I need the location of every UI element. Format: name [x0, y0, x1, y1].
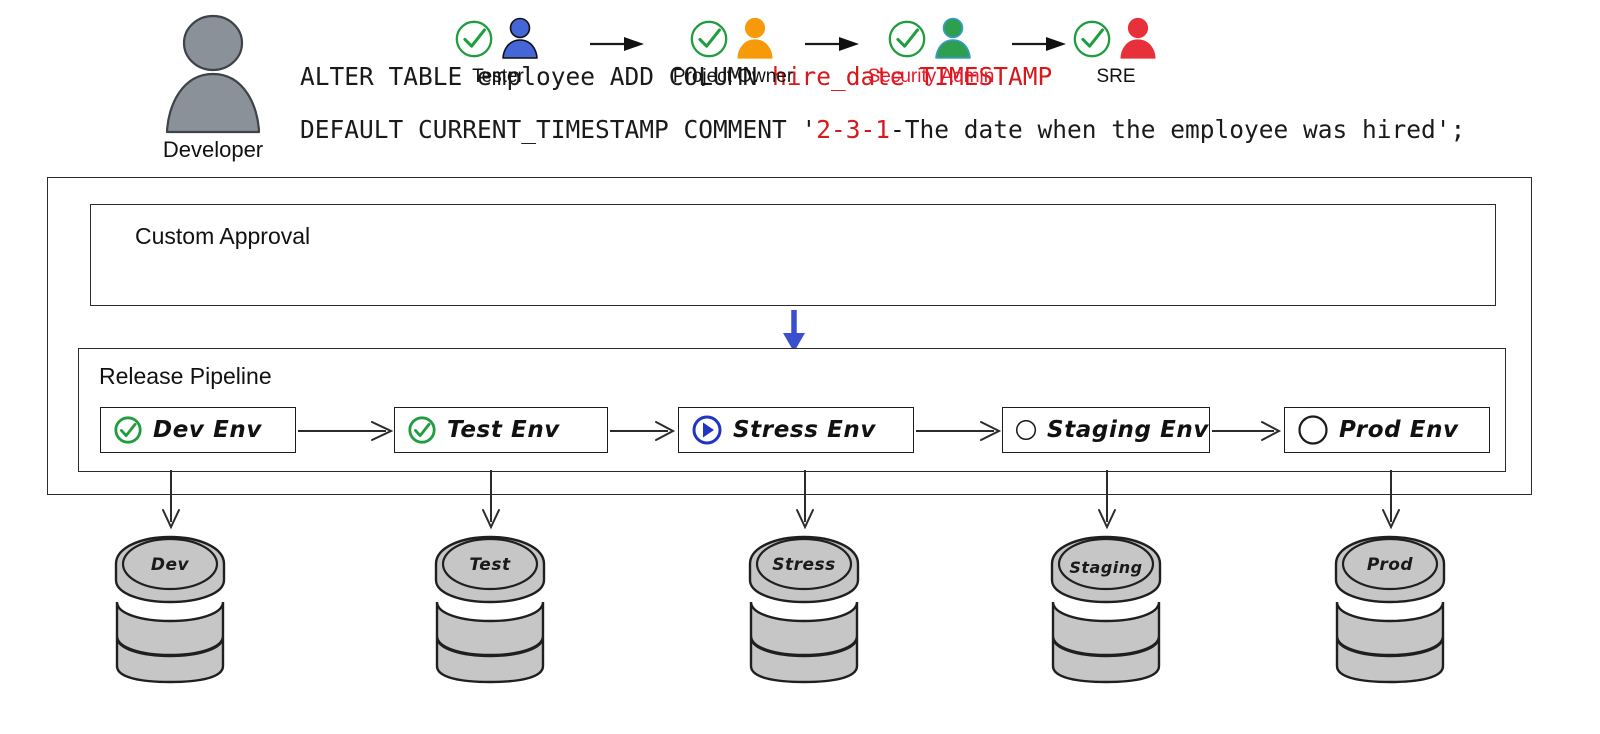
- pipeline-stage-label: Test Env: [447, 417, 560, 443]
- check-circle-icon: [886, 18, 928, 60]
- pipeline-stage-dev-env[interactable]: Dev Env: [100, 407, 296, 453]
- pipeline-stage-test-env[interactable]: Test Env: [394, 407, 608, 453]
- check-circle-icon: [113, 415, 143, 445]
- arrow-down-icon: [478, 470, 504, 530]
- check-circle-icon: [453, 18, 495, 60]
- database-cylinder-icon: [1328, 532, 1452, 684]
- arrow-down-icon: [776, 310, 812, 352]
- arrow-down-icon: [1094, 470, 1120, 530]
- empty-circle-icon: [1015, 414, 1037, 446]
- person-avatar-icon: [1115, 16, 1161, 62]
- arrow-right-icon: [916, 420, 1002, 442]
- approver-avatar-row: [851, 14, 1011, 64]
- developer-actor: Developer: [150, 14, 276, 162]
- approver-security-admin[interactable]: Security Admin: [851, 14, 1011, 88]
- sql-line2-highlight: 2-3-1: [816, 115, 890, 144]
- approver-label: SRE: [1036, 66, 1196, 88]
- empty-circle-icon: [1297, 414, 1329, 446]
- play-circle-icon: [691, 414, 723, 446]
- diagram-canvas: Developer ALTER TABLE employee ADD COLUM…: [0, 0, 1600, 734]
- arrow-right-icon: [298, 420, 394, 442]
- database-cylinder-icon: [428, 532, 552, 684]
- person-avatar-icon: [930, 16, 976, 62]
- check-circle-icon: [407, 415, 437, 445]
- approver-sre[interactable]: SRE: [1036, 14, 1196, 88]
- database-test[interactable]: Test: [428, 532, 552, 684]
- arrow-down-icon: [1378, 470, 1404, 530]
- custom-approval-title: Custom Approval: [135, 223, 310, 250]
- database-staging[interactable]: Staging: [1044, 532, 1168, 684]
- sql-line2-plain-a: DEFAULT CURRENT_TIMESTAMP COMMENT ': [300, 115, 816, 144]
- approver-tester[interactable]: Tester: [418, 14, 578, 88]
- approver-label: Project Owner: [653, 66, 813, 88]
- developer-label: Developer: [150, 138, 276, 162]
- pipeline-stage-staging-env[interactable]: Staging Env: [1002, 407, 1210, 453]
- arrow-down-icon: [158, 470, 184, 530]
- database-cylinder-icon: [108, 532, 232, 684]
- approver-avatar-row: [1036, 14, 1196, 64]
- arrow-right-icon: [1212, 420, 1282, 442]
- arrow-right-icon: [610, 420, 676, 442]
- check-circle-icon: [688, 18, 730, 60]
- approver-label: Security Admin: [851, 66, 1011, 88]
- approver-project-owner[interactable]: Project Owner: [653, 14, 813, 88]
- arrow-right-icon: [590, 36, 644, 52]
- release-pipeline-title: Release Pipeline: [99, 363, 272, 390]
- arrow-down-icon: [792, 470, 818, 530]
- check-circle-icon: [1071, 18, 1113, 60]
- approver-label: Tester: [418, 66, 578, 88]
- pipeline-stage-label: Dev Env: [153, 417, 262, 443]
- database-cylinder-icon: [742, 532, 866, 684]
- approver-avatar-row: [653, 14, 813, 64]
- pipeline-stage-prod-env[interactable]: Prod Env: [1284, 407, 1490, 453]
- database-stress[interactable]: Stress: [742, 532, 866, 684]
- database-prod[interactable]: Prod: [1328, 532, 1452, 684]
- sql-line-2: DEFAULT CURRENT_TIMESTAMP COMMENT '2-3-1…: [300, 103, 1480, 156]
- pipeline-stage-label: Stress Env: [733, 417, 876, 443]
- pipeline-stage-stress-env[interactable]: Stress Env: [678, 407, 914, 453]
- person-avatar-icon: [497, 16, 543, 62]
- sql-line2-plain-b: -The date when the employee was hired';: [890, 115, 1465, 144]
- database-cylinder-icon: [1044, 532, 1168, 684]
- database-dev[interactable]: Dev: [108, 532, 232, 684]
- pipeline-stage-label: Staging Env: [1047, 417, 1209, 443]
- user-silhouette-icon: [158, 14, 268, 136]
- person-avatar-icon: [732, 16, 778, 62]
- pipeline-stage-label: Prod Env: [1339, 417, 1459, 443]
- custom-approval-section: Custom Approval: [90, 204, 1496, 306]
- approver-avatar-row: [418, 14, 578, 64]
